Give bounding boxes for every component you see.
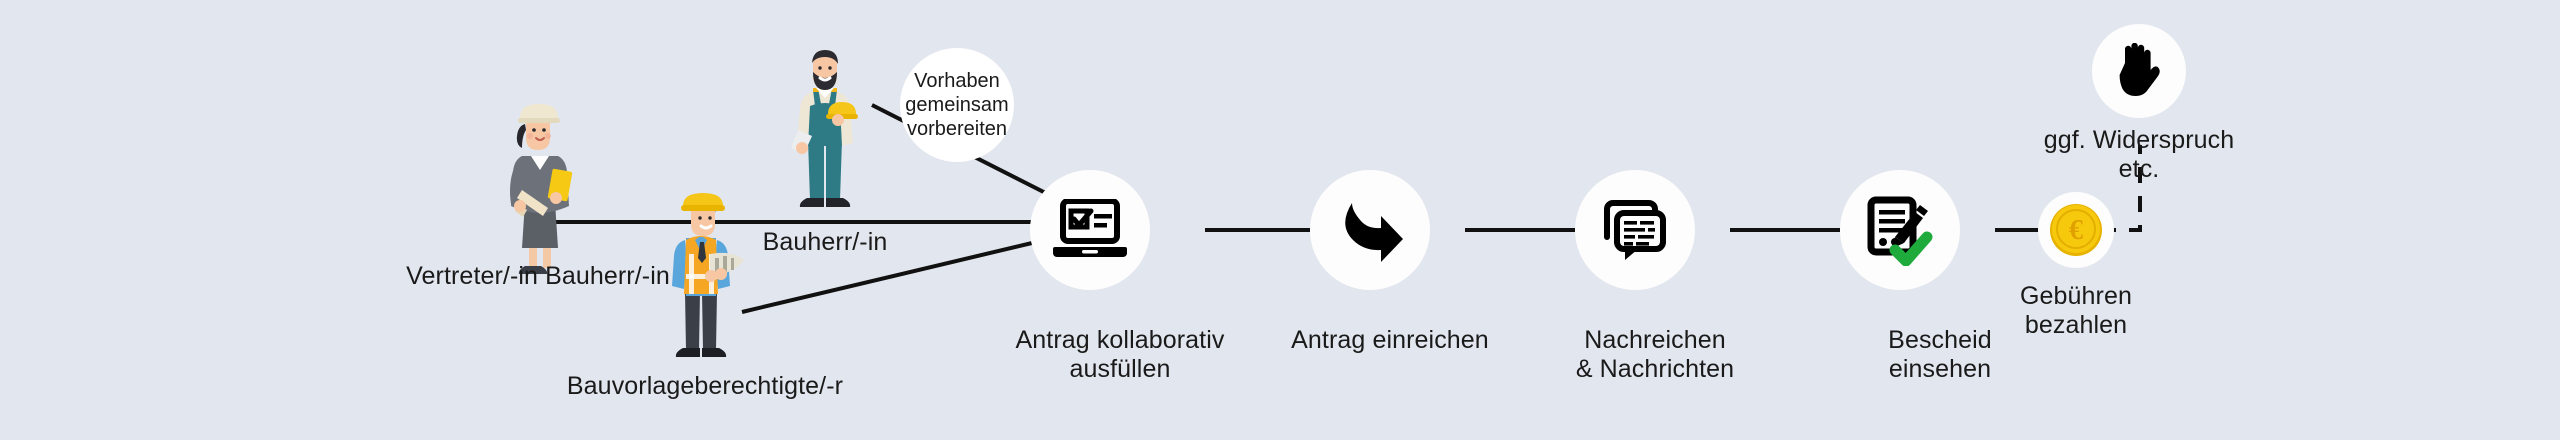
document-pencil-check-icon xyxy=(1863,194,1937,266)
actor-label-bauvorlageberechtigte: Bauvorlageberechtigte/-r xyxy=(540,372,870,401)
step-label-gebuehren: Gebühren bezahlen xyxy=(1976,282,2176,340)
stop-hand-icon xyxy=(2114,43,2164,99)
step-node-widerspruch[interactable] xyxy=(2092,24,2186,118)
process-flow-diagram: Vertreter/-in Bauherr/-in xyxy=(0,0,2560,440)
curved-arrow-right-icon xyxy=(1335,197,1405,263)
callout-vorhaben-vorbereiten: Vorhaben gemeinsam vorbereiten xyxy=(900,48,1014,162)
chat-bubbles-icon xyxy=(1599,197,1671,263)
actor-figure-bauvorlageberechtigte xyxy=(655,192,755,370)
actor-figure-bauherr xyxy=(780,48,870,218)
step-label-nachreichen: Nachreichen & Nachrichten xyxy=(1495,326,1815,384)
euro-coin-icon: € xyxy=(2047,201,2105,259)
step-label-widerspruch: ggf. Widerspruch etc. xyxy=(2019,126,2259,184)
step-node-bescheid[interactable] xyxy=(1840,170,1960,290)
step-node-gebuehren[interactable]: € xyxy=(2038,192,2114,268)
laptop-form-checkbox-icon xyxy=(1051,199,1129,261)
callout-text: Vorhaben gemeinsam vorbereiten xyxy=(905,69,1008,141)
svg-text:€: € xyxy=(2069,215,2083,246)
actor-figure-vertreter xyxy=(498,98,578,278)
step-node-nachreichen[interactable] xyxy=(1575,170,1695,290)
step-node-antrag-ausfuellen[interactable] xyxy=(1030,170,1150,290)
step-node-antrag-einreichen[interactable] xyxy=(1310,170,1430,290)
